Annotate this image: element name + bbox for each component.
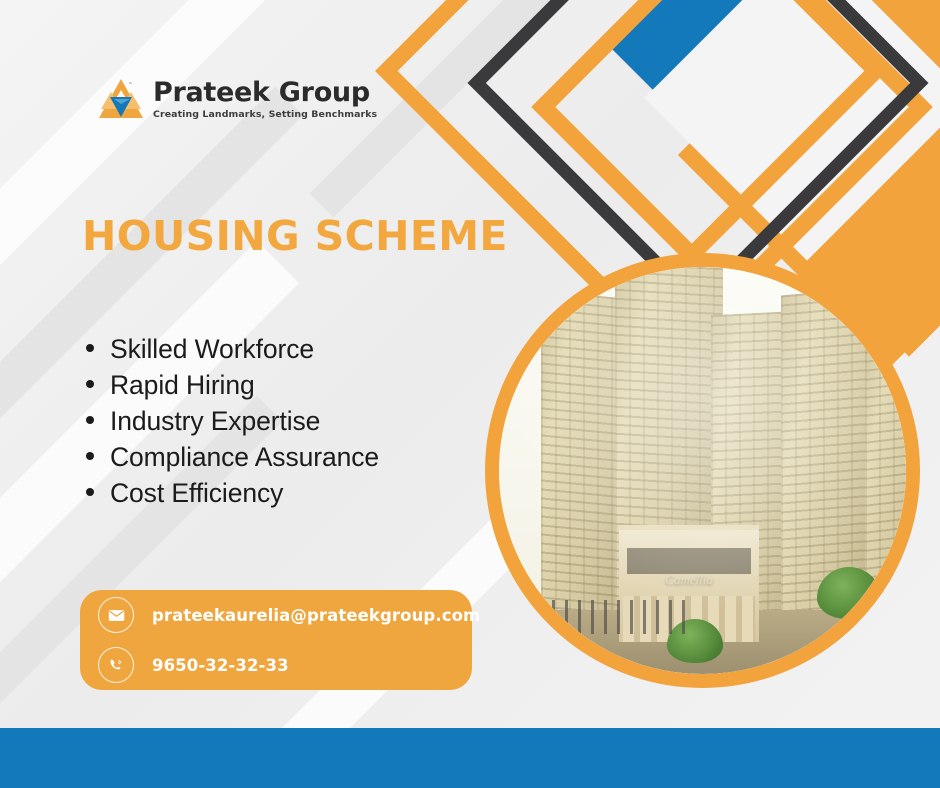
bullet-dot-icon bbox=[86, 416, 94, 424]
brand-logo: ™ Prateek Group Creating Landmarks, Sett… bbox=[98, 76, 373, 122]
gate-band bbox=[627, 548, 751, 574]
page-title: HOUSING SCHEME bbox=[82, 212, 508, 260]
brand-tagline: Creating Landmarks, Setting Benchmarks bbox=[153, 110, 377, 119]
bullet-dot-icon bbox=[86, 488, 94, 496]
contact-email-row[interactable]: prateekaurelia@prateekgroup.com bbox=[98, 597, 472, 633]
feature-label: Cost Efficiency bbox=[110, 480, 283, 507]
bullet-dot-icon bbox=[86, 344, 94, 352]
fence-railing bbox=[539, 600, 689, 634]
phone-text: 9650-32-32-33 bbox=[152, 656, 289, 675]
list-item: Industry Expertise bbox=[86, 408, 379, 435]
feature-label: Industry Expertise bbox=[110, 408, 320, 435]
list-item: Skilled Workforce bbox=[86, 336, 379, 363]
svg-text:™: ™ bbox=[128, 82, 133, 88]
envelope-icon bbox=[98, 597, 134, 633]
feature-label: Skilled Workforce bbox=[110, 336, 314, 363]
bottom-accent-bar bbox=[0, 728, 940, 788]
gate-signage-text: Camellia bbox=[619, 572, 759, 588]
email-text: prateekaurelia@prateekgroup.com bbox=[152, 606, 480, 625]
prateek-triangle-logo-icon: ™ bbox=[98, 76, 144, 122]
contact-phone-row[interactable]: 9650-32-32-33 bbox=[98, 647, 472, 683]
phone-icon bbox=[98, 647, 134, 683]
list-item: Compliance Assurance bbox=[86, 444, 379, 471]
bullet-dot-icon bbox=[86, 380, 94, 388]
feature-label: Compliance Assurance bbox=[110, 444, 379, 471]
residential-towers-photo: Camellia bbox=[485, 253, 920, 688]
feature-list: Skilled Workforce Rapid Hiring Industry … bbox=[86, 336, 379, 516]
list-item: Rapid Hiring bbox=[86, 372, 379, 399]
palm-tree bbox=[851, 599, 906, 645]
housing-scheme-poster: ™ Prateek Group Creating Landmarks, Sett… bbox=[0, 0, 940, 788]
photo-content: Camellia bbox=[499, 267, 906, 674]
list-item: Cost Efficiency bbox=[86, 480, 379, 507]
brand-name: Prateek Group bbox=[153, 79, 373, 106]
bullet-dot-icon bbox=[86, 452, 94, 460]
contact-card: prateekaurelia@prateekgroup.com 9650-32-… bbox=[80, 590, 472, 690]
feature-label: Rapid Hiring bbox=[110, 372, 255, 399]
